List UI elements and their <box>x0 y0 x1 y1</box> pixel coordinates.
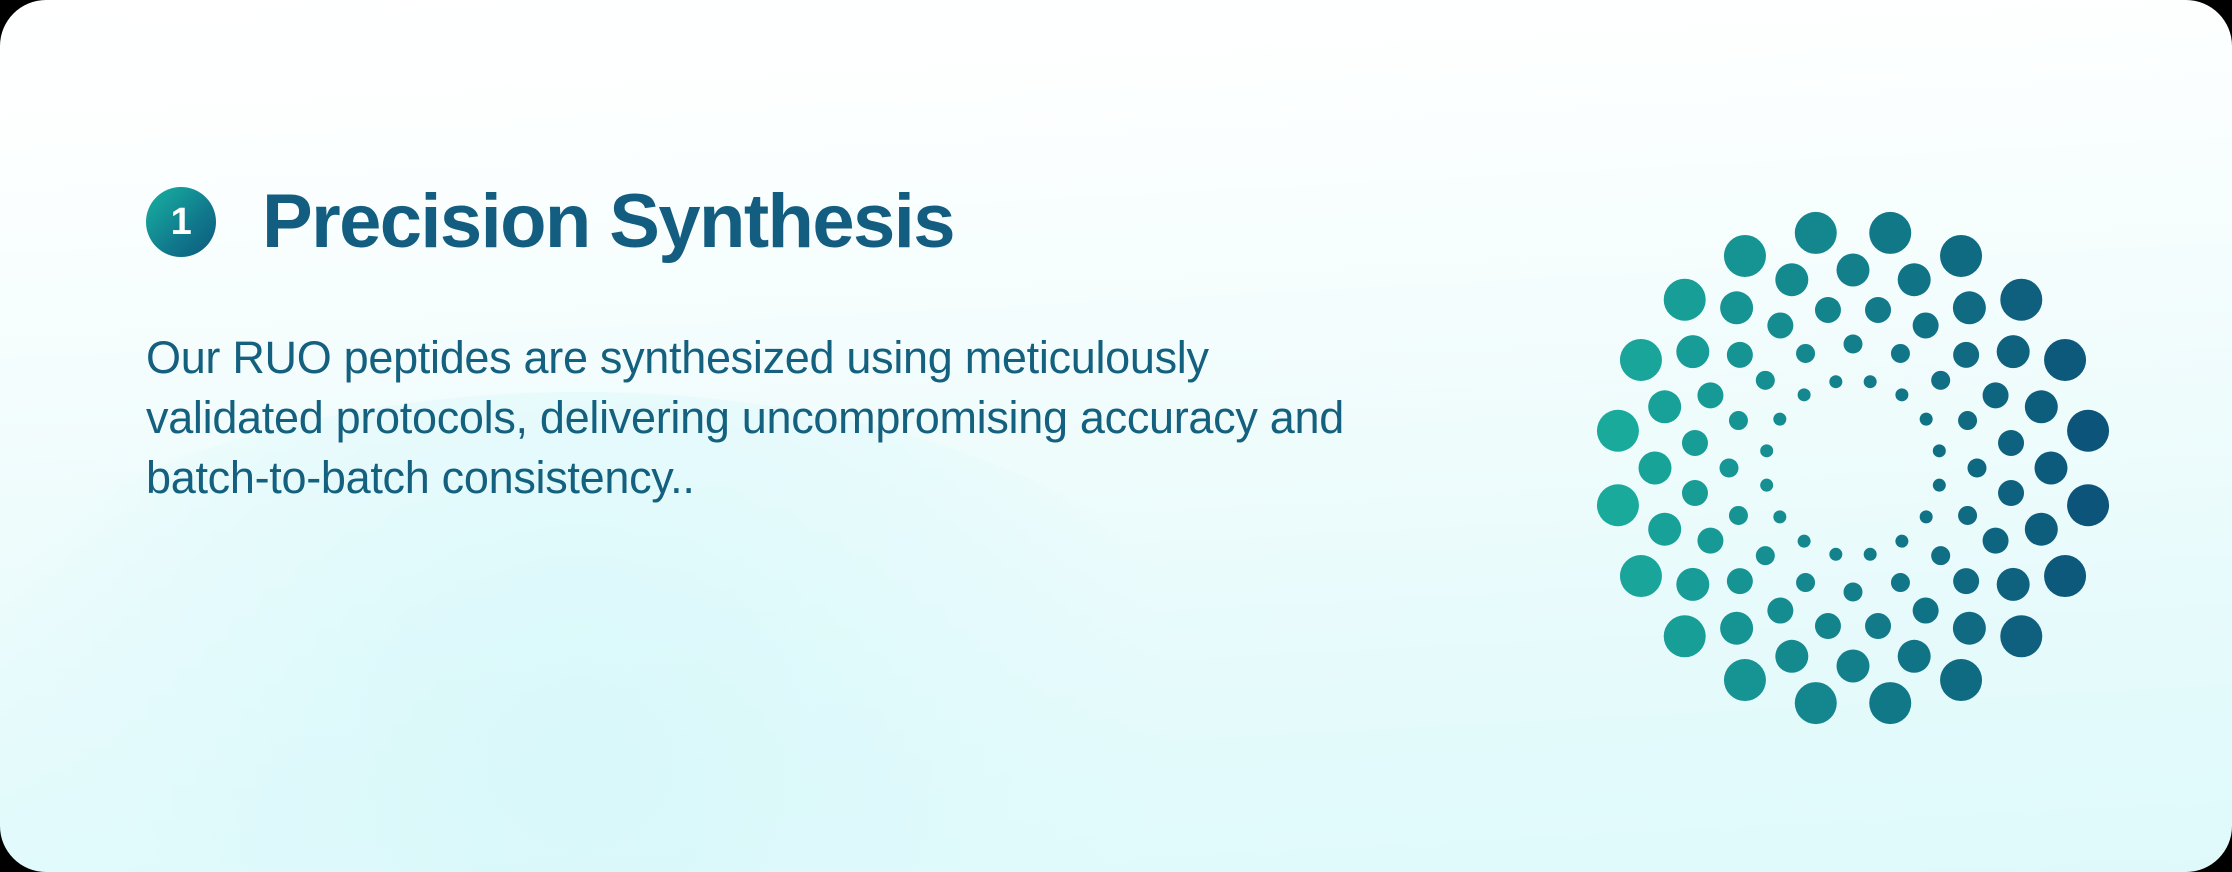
card-content: 1 Precision Synthesis Our RUO peptides a… <box>146 168 1466 508</box>
step-number-badge: 1 <box>146 187 216 257</box>
card-heading-row: 1 Precision Synthesis <box>146 168 1466 276</box>
feature-card: 1 Precision Synthesis Our RUO peptides a… <box>0 0 2232 872</box>
card-body-text: Our RUO peptides are synthesized using m… <box>146 276 1356 508</box>
radial-dot-ring-graphic <box>1583 198 2123 738</box>
step-number-label: 1 <box>171 203 192 241</box>
card-title: Precision Synthesis <box>262 184 954 260</box>
radial-dot-ring-icon <box>1583 198 2123 738</box>
